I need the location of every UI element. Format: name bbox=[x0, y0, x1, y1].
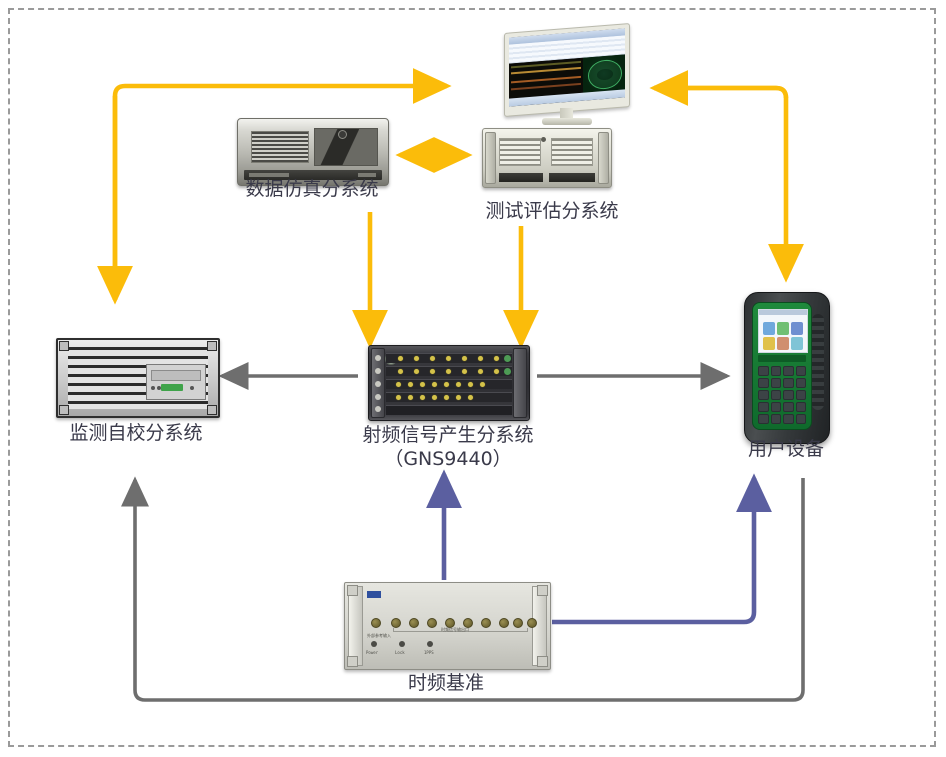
front-control-panel bbox=[146, 364, 206, 400]
connector-row bbox=[386, 366, 512, 376]
mount-corner bbox=[347, 656, 358, 667]
connector-row bbox=[386, 379, 512, 389]
pps-led-icon bbox=[427, 641, 433, 647]
status-led-icon bbox=[161, 384, 183, 391]
brand-logo bbox=[367, 591, 381, 598]
monitor-screen bbox=[509, 28, 625, 106]
label-rf-gen: 射频信号产生分系统 （GNS9440） bbox=[318, 424, 578, 472]
status-led-icon bbox=[504, 355, 511, 362]
front-label-strip bbox=[549, 173, 595, 182]
mount-corner bbox=[347, 585, 358, 596]
node-time-freq[interactable]: 外部参考输入 时频信号输出口 Power Lock 1PPS bbox=[344, 582, 551, 670]
port-group-label: 时频信号输出口 bbox=[441, 627, 469, 633]
mount-corner bbox=[59, 405, 69, 415]
power-knob-icon bbox=[338, 130, 347, 139]
handheld-receiver-icon bbox=[744, 292, 828, 442]
rackmount-server-icon bbox=[237, 118, 389, 186]
lock-led-icon bbox=[399, 641, 405, 647]
rack-ear-left bbox=[485, 132, 496, 184]
connector-pin bbox=[157, 386, 161, 390]
connector-pin bbox=[190, 386, 194, 390]
device-screen bbox=[758, 309, 808, 353]
node-test-eval[interactable] bbox=[462, 28, 642, 218]
rack-ear-left bbox=[348, 586, 363, 666]
bnc-connector bbox=[371, 618, 381, 628]
mount-corner bbox=[537, 656, 548, 667]
rack-ear-right bbox=[598, 132, 609, 184]
time-frequency-reference-icon: 外部参考输入 时频信号输出口 Power Lock 1PPS bbox=[344, 582, 551, 670]
port-label-left: 外部参考输入 bbox=[367, 633, 391, 639]
label-data-sim: 数据仿真分系统 bbox=[177, 178, 447, 202]
vent-grille bbox=[499, 138, 541, 166]
drive-slot bbox=[151, 370, 201, 381]
led-label-lock: Lock bbox=[395, 650, 405, 655]
monitor-and-workstation-icon bbox=[504, 28, 634, 126]
rackmount-chassis-icon bbox=[56, 338, 220, 418]
device-faceplate bbox=[752, 302, 812, 430]
rf-generator-icon bbox=[368, 345, 530, 421]
bnc-connector bbox=[409, 618, 419, 628]
indicator-icon bbox=[375, 406, 381, 412]
bnc-connector bbox=[391, 618, 401, 628]
mount-corner bbox=[59, 341, 69, 351]
label-monitor-cal: 监测自校分系统 bbox=[6, 422, 266, 446]
status-led-icon bbox=[504, 368, 511, 375]
front-label-strip bbox=[499, 173, 543, 182]
led-label-power: Power bbox=[366, 650, 378, 655]
mount-corner bbox=[537, 585, 548, 596]
mount-corner bbox=[207, 341, 217, 351]
connector-row bbox=[386, 353, 512, 363]
bnc-connector bbox=[513, 618, 523, 628]
vent-grille bbox=[251, 131, 309, 163]
indicator-icon bbox=[375, 381, 381, 387]
bnc-connector bbox=[499, 618, 509, 628]
node-monitor-cal[interactable] bbox=[56, 338, 220, 418]
indicator-icon bbox=[375, 394, 381, 400]
monitor-bezel bbox=[504, 23, 630, 117]
indicator-icon bbox=[375, 355, 381, 361]
mount-corner bbox=[207, 405, 217, 415]
label-test-eval: 测试评估分系统 bbox=[412, 200, 692, 224]
label-rf-gen-line1: 射频信号产生分系统 bbox=[318, 424, 578, 448]
bnc-connector bbox=[527, 618, 537, 628]
label-time-freq: 时频基准 bbox=[366, 672, 526, 696]
screen-skyplot bbox=[583, 55, 625, 93]
monitor-base bbox=[542, 118, 592, 125]
node-rf-gen[interactable] bbox=[368, 345, 530, 421]
rack-ear-right bbox=[513, 348, 527, 418]
connector-row bbox=[386, 392, 512, 402]
label-user-eq: 用户设备 bbox=[706, 438, 866, 462]
node-user-eq[interactable] bbox=[744, 292, 828, 442]
bnc-connector bbox=[427, 618, 437, 628]
power-led-icon bbox=[541, 137, 546, 142]
power-led-icon bbox=[371, 641, 377, 647]
diagram-canvas: 数据仿真分系统 测试评估分系统 bbox=[0, 0, 946, 757]
vent-grille bbox=[551, 138, 593, 166]
bottom-panel bbox=[386, 405, 512, 415]
app-icon-grid bbox=[763, 322, 803, 350]
model-band bbox=[758, 355, 806, 362]
connector-pin bbox=[151, 386, 155, 390]
node-data-sim[interactable] bbox=[237, 118, 389, 186]
label-rf-gen-line2: （GNS9440） bbox=[318, 448, 578, 472]
bnc-connector bbox=[481, 618, 491, 628]
side-grip bbox=[812, 314, 824, 410]
led-label-pps: 1PPS bbox=[424, 650, 434, 655]
keypad bbox=[758, 366, 806, 424]
indicator-icon bbox=[375, 368, 381, 374]
workstation-chassis-icon bbox=[482, 128, 612, 188]
screen-signal-chart bbox=[509, 58, 583, 99]
